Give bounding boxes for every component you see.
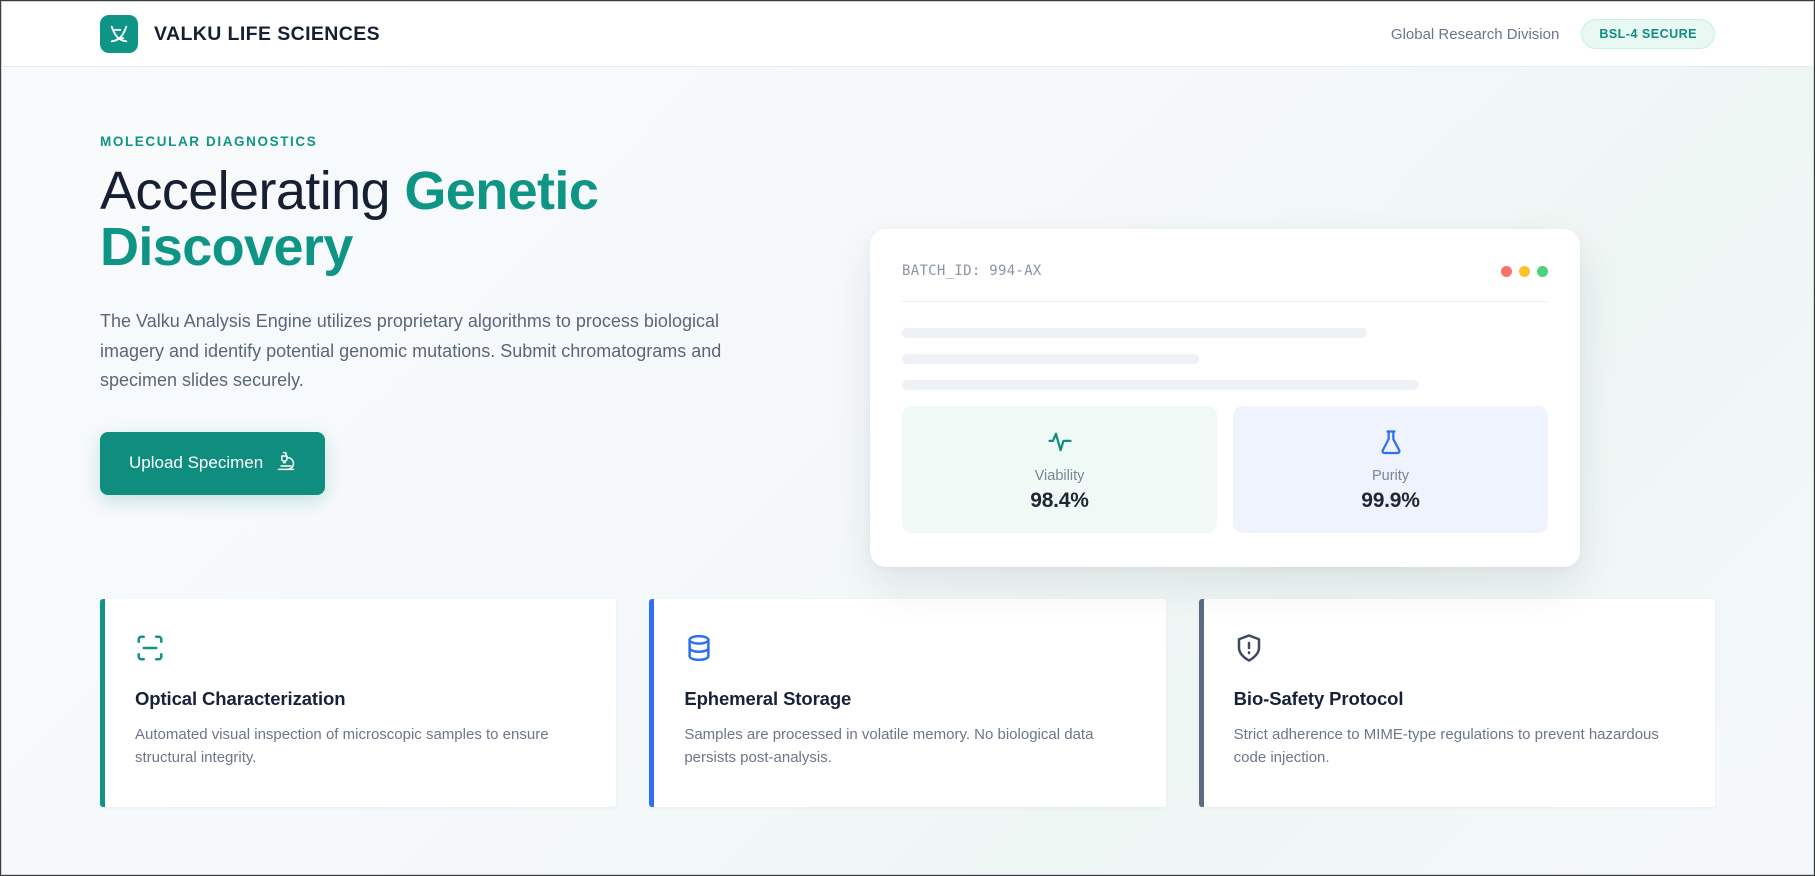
feature-title: Bio-Safety Protocol [1234,688,1685,710]
stat-tiles: Viability 98.4% Purity 99.9% [902,406,1548,533]
feature-description: Strict adherence to MIME-type regulation… [1234,723,1685,770]
feature-description: Automated visual inspection of microscop… [135,723,586,770]
analysis-card: BATCH_ID: 994-AX [870,229,1580,567]
status-badge: BSL-4 SECURE [1581,19,1715,49]
batch-id-label: BATCH_ID: 994-AX [902,263,1042,279]
window-dot-green[interactable] [1537,266,1548,277]
scan-focus-icon [135,633,586,663]
feature-title: Optical Characterization [135,688,586,710]
dna-helix-icon [100,15,138,53]
skeleton-bar [902,354,1199,364]
feature-description: Samples are processed in volatile memory… [684,723,1135,770]
activity-pulse-icon [912,428,1207,456]
feature-card-bio-safety-protocol[interactable]: Bio-Safety Protocol Strict adherence to … [1199,599,1715,808]
brand-name: VALKU LIFE SCIENCES [154,23,380,46]
hero-description: The Valku Analysis Engine utilizes propr… [100,307,770,396]
database-icon [684,633,1135,663]
shield-alert-icon [1234,633,1685,663]
hero-copy: MOLECULAR DIAGNOSTICS Accelerating Genet… [100,134,790,495]
card-topbar: BATCH_ID: 994-AX [902,263,1548,302]
skeleton-placeholder [902,302,1548,390]
window-dot-red[interactable] [1501,266,1512,277]
stat-tile-viability: Viability 98.4% [902,406,1217,533]
window-dot-yellow[interactable] [1519,266,1530,277]
microscope-icon [276,451,296,476]
feature-card-ephemeral-storage[interactable]: Ephemeral Storage Samples are processed … [649,599,1165,808]
skeleton-bar [902,380,1419,390]
hero-eyebrow: MOLECULAR DIAGNOSTICS [100,134,790,149]
browser-viewport: VALKU LIFE SCIENCES Global Research Divi… [1,1,1814,875]
window-dots [1501,266,1548,277]
page-title: Accelerating Genetic Discovery [100,163,630,275]
division-label: Global Research Division [1391,26,1559,43]
stat-value: 98.4% [912,489,1207,513]
flask-icon [1243,428,1538,456]
page-body: MOLECULAR DIAGNOSTICS Accelerating Genet… [2,67,1813,874]
stat-tile-purity: Purity 99.9% [1233,406,1548,533]
feature-card-optical-characterization[interactable]: Optical Characterization Automated visua… [100,599,616,808]
site-header: VALKU LIFE SCIENCES Global Research Divi… [2,2,1813,67]
upload-specimen-button[interactable]: Upload Specimen [100,432,325,495]
feature-title: Ephemeral Storage [684,688,1135,710]
skeleton-bar [902,328,1367,338]
stat-label: Purity [1243,468,1538,484]
hero-section: MOLECULAR DIAGNOSTICS Accelerating Genet… [100,67,1715,495]
header-right: Global Research Division BSL-4 SECURE [1391,19,1715,49]
brand-logo[interactable]: VALKU LIFE SCIENCES [100,15,380,53]
hero-title-lead: Accelerating [100,161,404,221]
stat-value: 99.9% [1243,489,1538,513]
features-section: Optical Characterization Automated visua… [100,599,1715,808]
stat-label: Viability [912,468,1207,484]
upload-button-label: Upload Specimen [129,453,263,473]
